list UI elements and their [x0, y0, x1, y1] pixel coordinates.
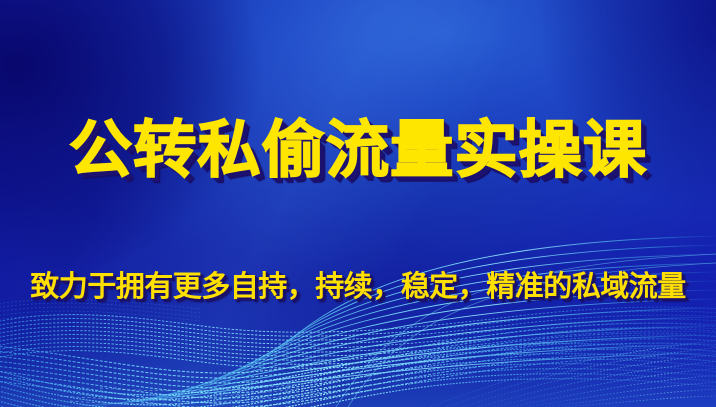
text-block: 公转私偷流量实操课 致力于拥有更多自持，持续，稳定，精准的私域流量	[0, 0, 716, 407]
main-title: 公转私偷流量实操课	[0, 118, 716, 183]
sub-title: 致力于拥有更多自持，持续，稳定，精准的私域流量	[0, 263, 716, 305]
poster-canvas: 公转私偷流量实操课 致力于拥有更多自持，持续，稳定，精准的私域流量	[0, 0, 716, 407]
